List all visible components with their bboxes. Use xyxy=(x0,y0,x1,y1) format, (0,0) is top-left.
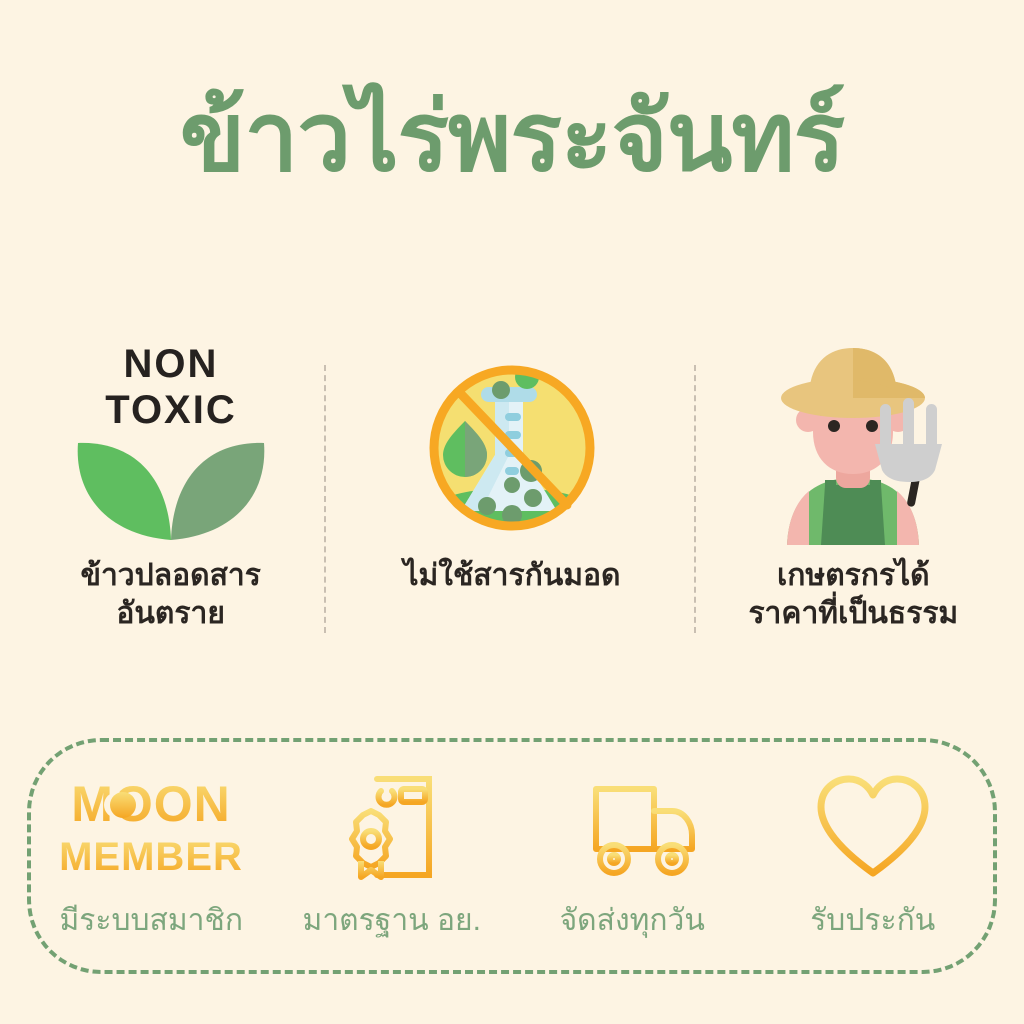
moon-member-wordmark: MOON MEMBER xyxy=(51,769,251,881)
benefits-panel: MOON MEMBER มีระบบสมาชิก xyxy=(27,738,997,974)
benefit-delivery: จัดส่งทุกวัน xyxy=(512,742,753,970)
feature-caption: ข้าวปลอดสาร อันตราย xyxy=(80,557,260,634)
moon-wordmark-line2: MEMBER xyxy=(59,835,243,879)
certificate-award-icon xyxy=(337,769,447,881)
non-toxic-line2: TOXIC xyxy=(105,388,237,432)
benefit-label: รับประกัน xyxy=(810,897,935,944)
heart-outline-icon xyxy=(813,769,933,881)
benefit-label: มาตรฐาน อย. xyxy=(303,897,481,944)
farmer-with-pitchfork-icon xyxy=(751,330,956,555)
benefit-label: มีระบบสมาชิก xyxy=(59,897,243,944)
feature-caption: ไม่ใช้สารกันมอด xyxy=(403,557,620,595)
benefit-certified: มาตรฐาน อย. xyxy=(272,742,513,970)
feature-divider-1 xyxy=(324,365,326,633)
feature-non-toxic: NON TOXIC ข้าวปลอดสาร อันตราย xyxy=(0,330,341,640)
feature-no-chemicals: ไม่ใช้สารกันมอด xyxy=(341,330,682,640)
benefit-member: MOON MEMBER มีระบบสมาชิก xyxy=(31,742,272,970)
feature-caption: เกษตรกรได้ ราคาที่เป็นธรรม xyxy=(748,557,958,634)
benefit-guarantee: รับประกัน xyxy=(753,742,994,970)
benefit-label: จัดส่งทุกวัน xyxy=(560,897,705,944)
delivery-truck-icon xyxy=(562,769,702,881)
no-chemical-flask-icon xyxy=(417,330,607,555)
infographic-page: ข้าวไร่พระจันทร์ NON TOXIC ข้าวปลอดสาร อ… xyxy=(0,0,1024,1024)
non-toxic-leaves-icon: NON TOXIC xyxy=(66,330,276,555)
moon-wordmark-line1: MOON xyxy=(71,776,231,832)
non-toxic-line1: NON xyxy=(123,342,218,386)
page-title: ข้าวไร่พระจันทร์ xyxy=(0,78,1024,198)
feature-row: NON TOXIC ข้าวปลอดสาร อันตราย xyxy=(0,330,1024,640)
feature-divider-2 xyxy=(694,365,696,633)
feature-fair-price: เกษตรกรได้ ราคาที่เป็นธรรม xyxy=(683,330,1024,640)
